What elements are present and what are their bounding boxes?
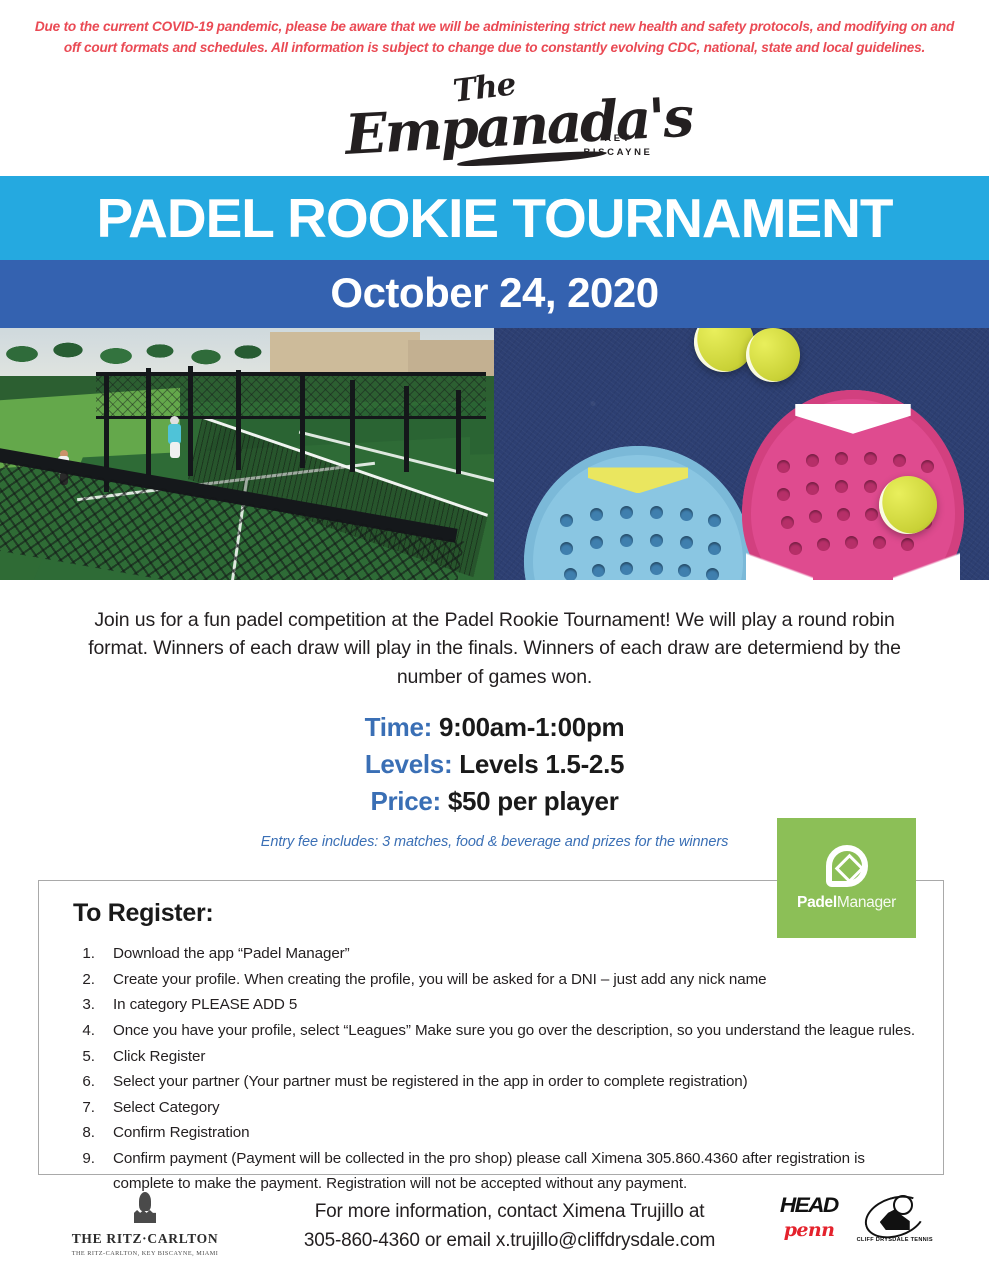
racquet-chevron xyxy=(588,467,688,493)
logo-location-line2: BISCAYNE xyxy=(583,146,652,160)
ritz-carlton-name: THE RITZ·CARLTON xyxy=(0,1231,290,1247)
racquet-holes xyxy=(558,506,718,580)
detail-price-value: $50 per player xyxy=(448,786,619,816)
tournament-date-banner: October 24, 2020 xyxy=(0,260,989,328)
footer: THE RITZ·CARLTON THE RITZ-CARLTON, KEY B… xyxy=(0,1186,989,1276)
empanadas-logo: The Empanada's KEY BISCAYNE xyxy=(0,64,989,176)
padel-manager-name-bold: Padel xyxy=(797,894,837,911)
contact-info: For more information, contact Ximena Tru… xyxy=(290,1186,729,1255)
tournament-title-banner: PADEL ROOKIE TOURNAMENT xyxy=(0,176,989,260)
event-details: Time: 9:00am-1:00pm Levels: Levels 1.5-2… xyxy=(0,709,989,820)
ritz-carlton-logo: THE RITZ·CARLTON THE RITZ-CARLTON, KEY B… xyxy=(0,1186,290,1257)
registration-steps-list: Download the app “Padel Manager” Create … xyxy=(73,942,917,1196)
head-penn-logo: HEAD penn xyxy=(782,1194,836,1241)
padel-manager-name-light: Manager xyxy=(837,894,896,911)
detail-price-label: Price: xyxy=(370,786,440,816)
registration-step: In category PLEASE ADD 5 xyxy=(99,993,917,1018)
registration-step: Download the app “Padel Manager” xyxy=(99,942,917,967)
registration-step: Once you have your profile, select “Leag… xyxy=(99,1019,917,1044)
head-wordmark: HEAD xyxy=(780,1194,838,1218)
detail-levels-label: Levels: xyxy=(365,749,453,779)
detail-levels-value: Levels 1.5-2.5 xyxy=(459,749,624,779)
ritz-carlton-property: THE RITZ-CARLTON, KEY BISCAYNE, MIAMI xyxy=(0,1250,290,1257)
logo-location-line1: KEY xyxy=(583,132,652,146)
sponsor-logos: HEAD penn CLIFF DRYSDALE TENNIS xyxy=(729,1186,989,1243)
logo-location: KEY BISCAYNE xyxy=(583,132,652,161)
background-building xyxy=(270,332,420,376)
contact-line-1: For more information, contact Ximena Tru… xyxy=(290,1198,729,1227)
padel-racquets-photo xyxy=(494,328,989,580)
registration-step: Select your partner (Your partner must b… xyxy=(99,1070,917,1095)
cliff-drysdale-icon xyxy=(864,1194,926,1236)
tournament-title: PADEL ROOKIE TOURNAMENT xyxy=(0,190,989,248)
padel-manager-logo: PadelManager xyxy=(777,818,916,938)
contact-line-2: 305-860-4360 or email x.trujillo@cliffdr… xyxy=(290,1227,729,1256)
padel-courts-photo xyxy=(0,328,494,580)
registration-step: Confirm Registration xyxy=(99,1121,917,1146)
detail-time: Time: 9:00am-1:00pm xyxy=(0,709,989,746)
photo-strip xyxy=(0,328,989,580)
registration-step: Select Category xyxy=(99,1096,917,1121)
racquet-chevron xyxy=(795,404,910,434)
player-figure xyxy=(168,424,181,444)
fence-mesh xyxy=(96,374,486,418)
padel-manager-wordmark: PadelManager xyxy=(797,894,896,912)
penn-wordmark: penn xyxy=(782,1219,836,1241)
tournament-date: October 24, 2020 xyxy=(0,271,989,315)
tennis-ball xyxy=(746,328,800,382)
player-figure xyxy=(170,442,180,458)
detail-price: Price: $50 per player xyxy=(0,783,989,820)
ritz-lion-crest-icon xyxy=(132,1192,158,1226)
detail-levels: Levels: Levels 1.5-2.5 xyxy=(0,746,989,783)
registration-step: Click Register xyxy=(99,1045,917,1070)
cliff-drysdale-logo: CLIFF DRYSDALE TENNIS xyxy=(854,1194,936,1243)
intro-paragraph: Join us for a fun padel competition at t… xyxy=(0,580,989,691)
detail-time-value: 9:00am-1:00pm xyxy=(439,712,624,742)
registration-step: Create your profile. When creating the p… xyxy=(99,968,917,993)
padel-manager-icon xyxy=(826,845,868,887)
background-building xyxy=(408,340,494,376)
tennis-ball xyxy=(879,476,937,534)
covid-notice: Due to the current COVID-19 pandemic, pl… xyxy=(0,0,989,58)
cliff-drysdale-name: CLIFF DRYSDALE TENNIS xyxy=(854,1237,936,1243)
detail-time-label: Time: xyxy=(365,712,432,742)
